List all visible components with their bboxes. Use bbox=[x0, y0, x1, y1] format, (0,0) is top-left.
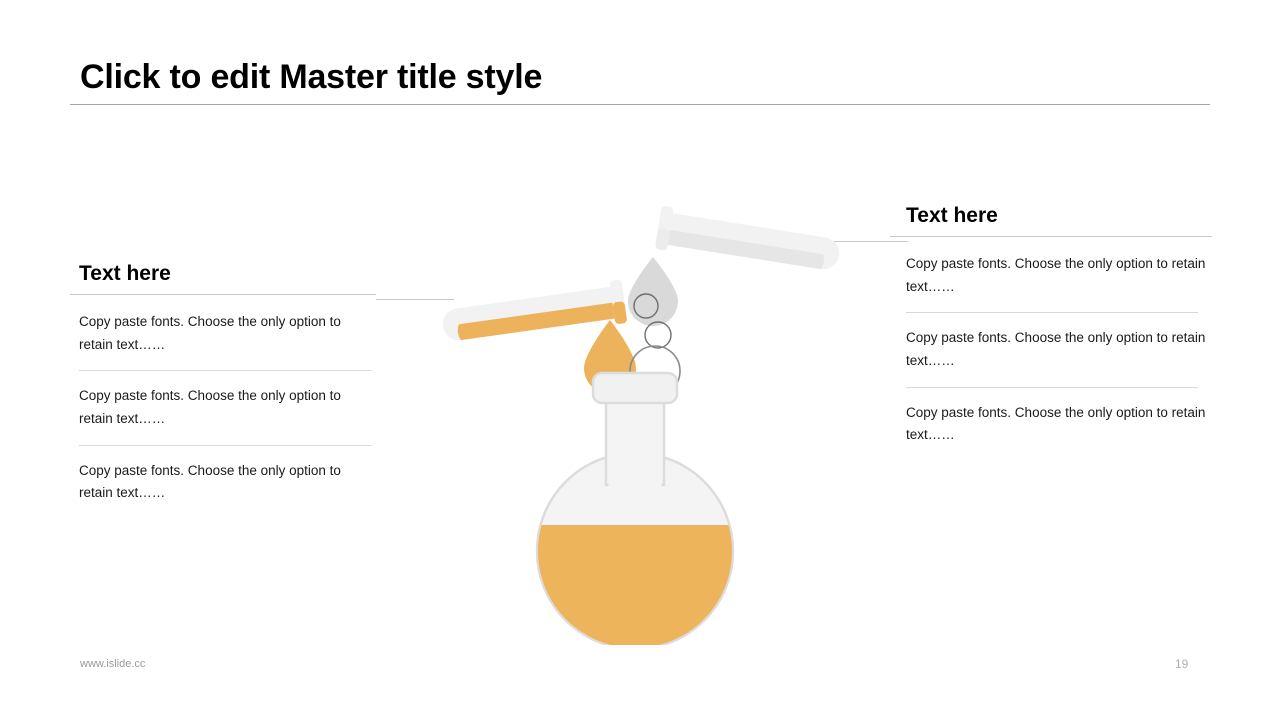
block-right-heading: Text here bbox=[906, 204, 1212, 227]
text-block-right: Text here Copy paste fonts. Choose the o… bbox=[906, 204, 1212, 461]
block-left-heading-divider bbox=[70, 294, 376, 295]
chemistry-flask-illustration bbox=[430, 195, 850, 645]
test-tube-gray-icon bbox=[655, 205, 843, 277]
text-block-left: Text here Copy paste fonts. Choose the o… bbox=[70, 262, 376, 519]
page-title: Click to edit Master title style bbox=[80, 58, 542, 97]
flask-icon bbox=[535, 373, 735, 645]
list-item: Copy paste fonts. Choose the only option… bbox=[906, 313, 1212, 386]
list-item: Copy paste fonts. Choose the only option… bbox=[906, 239, 1212, 312]
block-left-heading: Text here bbox=[79, 262, 376, 285]
list-item: Copy paste fonts. Choose the only option… bbox=[70, 297, 376, 370]
list-item: Copy paste fonts. Choose the only option… bbox=[70, 371, 376, 444]
block-right-heading-divider bbox=[890, 236, 1212, 237]
title-divider bbox=[70, 104, 1210, 105]
page-number: 19 bbox=[1175, 657, 1188, 671]
bubble-medium-dark-icon bbox=[645, 322, 671, 348]
list-item: Copy paste fonts. Choose the only option… bbox=[906, 388, 1212, 461]
footer-url[interactable]: www.islide.cc bbox=[80, 658, 145, 670]
list-item: Copy paste fonts. Choose the only option… bbox=[70, 446, 376, 519]
